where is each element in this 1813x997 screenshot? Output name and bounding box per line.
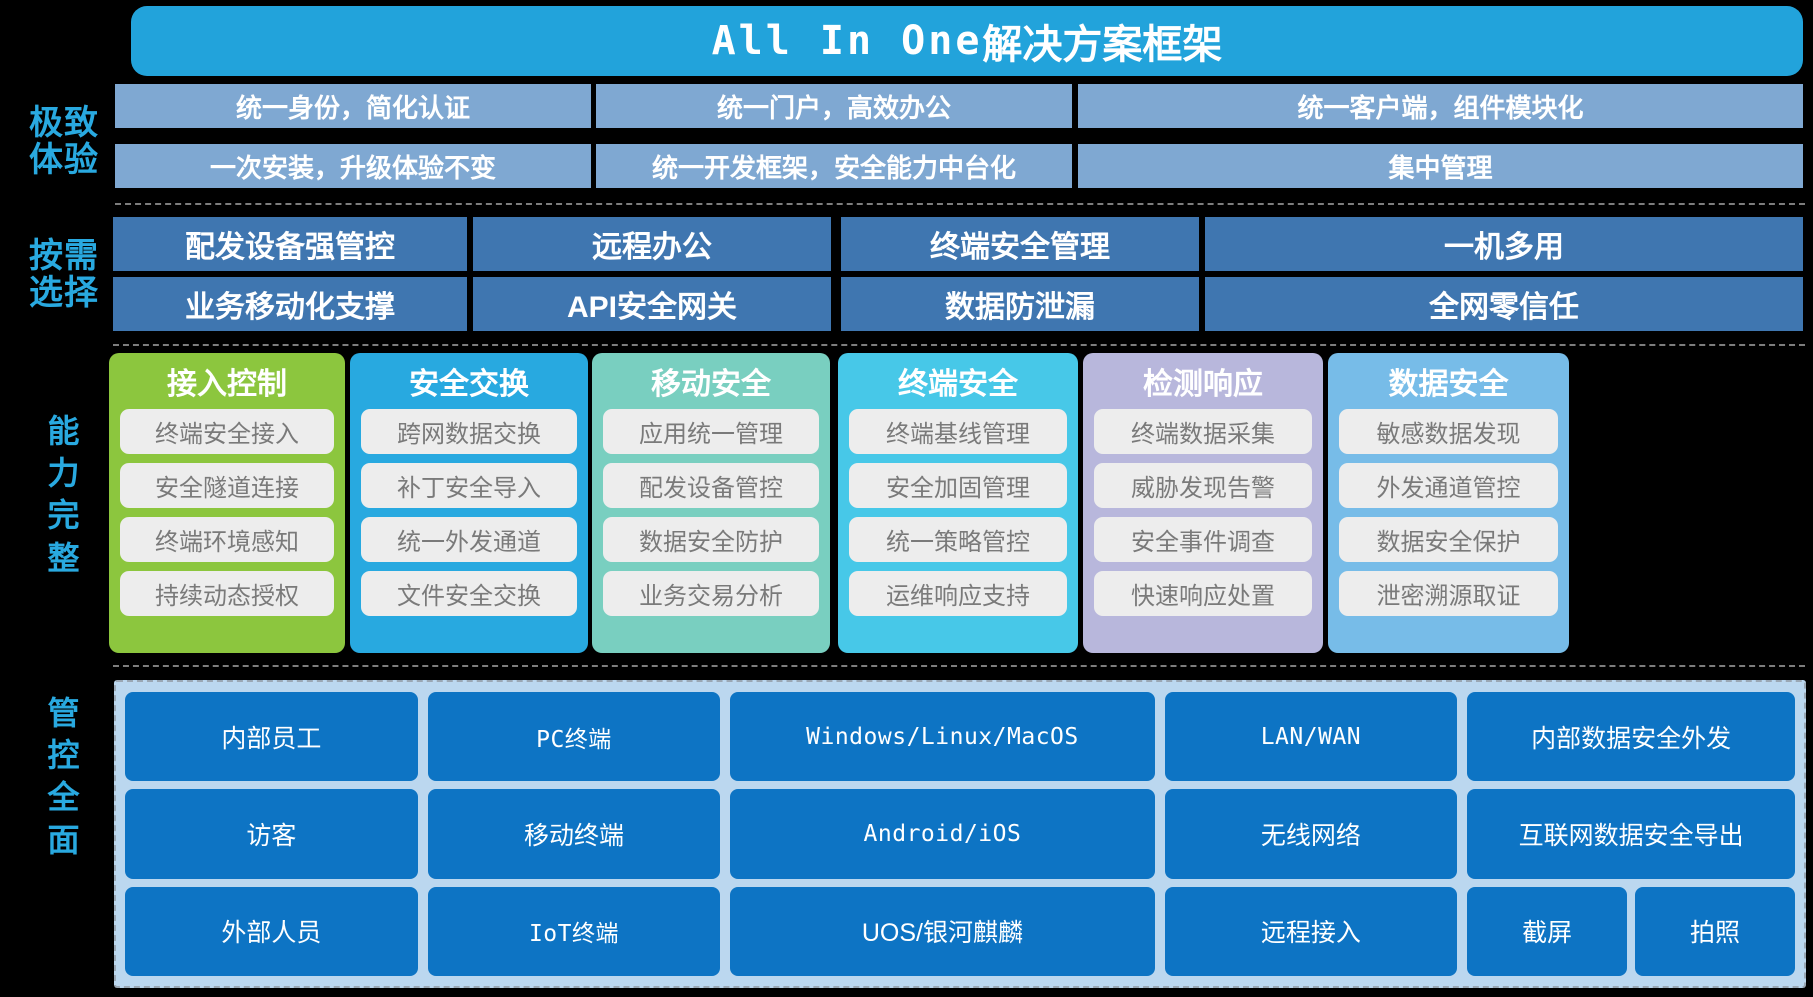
capability-item[interactable]: 业务交易分析 xyxy=(603,571,819,616)
coverage-chip[interactable]: 内部员工 xyxy=(125,692,418,781)
coverage-column-scenarios: 内部数据安全外发 互联网数据安全导出 截屏 拍照 xyxy=(1467,692,1795,976)
coverage-chip[interactable]: 内部数据安全外发 xyxy=(1467,692,1795,781)
capability-header: 检测响应 xyxy=(1083,353,1323,409)
coverage-chip[interactable]: LAN/WAN xyxy=(1165,692,1458,781)
capability-item[interactable]: 外发通道管控 xyxy=(1339,463,1558,508)
coverage-row: 互联网数据安全导出 xyxy=(1467,789,1795,878)
experience-bar-1-2: 统一门户，高效办公 xyxy=(596,84,1072,128)
coverage-column-operating-systems: Windows/Linux/MacOS Android/iOS UOS/银河麒麟 xyxy=(730,692,1154,976)
experience-bar-1-1: 统一身份，简化认证 xyxy=(115,84,591,128)
capability-item[interactable]: 安全加固管理 xyxy=(849,463,1067,508)
separator-experience-ondemand xyxy=(115,203,1805,205)
coverage-row: UOS/银河麒麟 xyxy=(730,887,1154,976)
coverage-row: PC终端 xyxy=(428,692,721,781)
capability-item[interactable]: 统一策略管控 xyxy=(849,517,1067,562)
rail-capability-char-3: 完 xyxy=(8,494,120,536)
rail-capability-char-2: 力 xyxy=(8,452,120,494)
capability-header: 安全交换 xyxy=(350,353,588,409)
rail-capability-char-4: 整 xyxy=(8,537,120,579)
capability-header: 数据安全 xyxy=(1328,353,1569,409)
rail-coverage-char-1: 管 xyxy=(8,692,120,734)
title-mono-prefix: All In One xyxy=(712,18,983,64)
coverage-row: Android/iOS xyxy=(730,789,1154,878)
capability-item[interactable]: 终端数据采集 xyxy=(1094,409,1312,454)
capability-item[interactable]: 补丁安全导入 xyxy=(361,463,577,508)
coverage-column-users: 内部员工 访客 外部人员 xyxy=(125,692,418,976)
capability-item[interactable]: 数据安全保护 xyxy=(1339,517,1558,562)
coverage-chip[interactable]: 拍照 xyxy=(1635,887,1795,976)
capability-item[interactable]: 配发设备管控 xyxy=(603,463,819,508)
coverage-chip[interactable]: Windows/Linux/MacOS xyxy=(730,692,1154,781)
capability-item-list: 跨网数据交换 补丁安全导入 统一外发通道 文件安全交换 xyxy=(350,409,588,626)
capability-item[interactable]: 终端环境感知 xyxy=(120,517,334,562)
capability-item-list: 终端安全接入 安全隧道连接 终端环境感知 持续动态授权 xyxy=(109,409,345,626)
rail-coverage-char-3: 全 xyxy=(8,776,120,818)
coverage-chip[interactable]: 无线网络 xyxy=(1165,789,1458,878)
diagram-title: All In One解决方案框架 xyxy=(131,6,1803,76)
coverage-chip[interactable]: 移动终端 xyxy=(428,789,721,878)
ondemand-bar-1-1: 配发设备强管控 xyxy=(113,217,467,271)
coverage-chip[interactable]: PC终端 xyxy=(428,692,721,781)
ondemand-bar-2-1: 业务移动化支撑 xyxy=(113,277,467,331)
capability-item[interactable]: 终端安全接入 xyxy=(120,409,334,454)
coverage-chip[interactable]: 远程接入 xyxy=(1165,887,1458,976)
rail-experience-line2: 体验 xyxy=(8,142,120,179)
experience-bar-2-3: 集中管理 xyxy=(1078,144,1803,188)
capability-item[interactable]: 快速响应处置 xyxy=(1094,571,1312,616)
coverage-row: 截屏 拍照 xyxy=(1467,887,1795,976)
coverage-row: Windows/Linux/MacOS xyxy=(730,692,1154,781)
coverage-row: 访客 xyxy=(125,789,418,878)
rail-label-experience: 极致 体验 xyxy=(8,105,120,178)
capability-item[interactable]: 运维响应支持 xyxy=(849,571,1067,616)
capability-column-detection-response: 检测响应 终端数据采集 威胁发现告警 安全事件调查 快速响应处置 xyxy=(1083,353,1323,653)
ondemand-bar-1-4: 一机多用 xyxy=(1205,217,1803,271)
coverage-chip[interactable]: 外部人员 xyxy=(125,887,418,976)
ondemand-bar-2-4: 全网零信任 xyxy=(1205,277,1803,331)
separator-capability-coverage xyxy=(113,665,1805,667)
rail-ondemand-line2: 选择 xyxy=(8,275,120,312)
ondemand-bar-1-3: 终端安全管理 xyxy=(841,217,1199,271)
capability-item[interactable]: 泄密溯源取证 xyxy=(1339,571,1558,616)
coverage-chip[interactable]: 截屏 xyxy=(1467,887,1627,976)
coverage-panel: 内部员工 访客 外部人员 PC终端 移动终端 IoT终端 Windows/Lin… xyxy=(114,680,1806,988)
capability-column-endpoint-security: 终端安全 终端基线管理 安全加固管理 统一策略管控 运维响应支持 xyxy=(838,353,1078,653)
capability-header: 接入控制 xyxy=(109,353,345,409)
capability-item[interactable]: 应用统一管理 xyxy=(603,409,819,454)
capability-item[interactable]: 文件安全交换 xyxy=(361,571,577,616)
coverage-column-networks: LAN/WAN 无线网络 远程接入 xyxy=(1165,692,1458,976)
capability-item[interactable]: 跨网数据交换 xyxy=(361,409,577,454)
capability-item-list: 应用统一管理 配发设备管控 数据安全防护 业务交易分析 xyxy=(592,409,830,626)
rail-label-coverage: 管 控 全 面 xyxy=(8,692,120,861)
capability-item[interactable]: 威胁发现告警 xyxy=(1094,463,1312,508)
coverage-row: 内部员工 xyxy=(125,692,418,781)
rail-capability-char-1: 能 xyxy=(8,410,120,452)
rail-coverage-char-2: 控 xyxy=(8,734,120,776)
capability-item-list: 终端基线管理 安全加固管理 统一策略管控 运维响应支持 xyxy=(838,409,1078,626)
capability-item[interactable]: 统一外发通道 xyxy=(361,517,577,562)
coverage-row: 无线网络 xyxy=(1165,789,1458,878)
experience-bar-2-2: 统一开发框架，安全能力中台化 xyxy=(596,144,1072,188)
capability-column-access-control: 接入控制 终端安全接入 安全隧道连接 终端环境感知 持续动态授权 xyxy=(109,353,345,653)
capability-item[interactable]: 持续动态授权 xyxy=(120,571,334,616)
capability-item[interactable]: 数据安全防护 xyxy=(603,517,819,562)
capability-column-mobile-security: 移动安全 应用统一管理 配发设备管控 数据安全防护 业务交易分析 xyxy=(592,353,830,653)
ondemand-bar-1-2: 远程办公 xyxy=(473,217,831,271)
coverage-row: LAN/WAN xyxy=(1165,692,1458,781)
title-cjk-suffix: 解决方案框架 xyxy=(982,12,1222,70)
rail-coverage-char-4: 面 xyxy=(8,819,120,861)
architecture-diagram: All In One解决方案框架 极致 体验 统一身份，简化认证 统一门户，高效… xyxy=(0,0,1813,997)
ondemand-bar-2-3: 数据防泄漏 xyxy=(841,277,1199,331)
capability-item-list: 敏感数据发现 外发通道管控 数据安全保护 泄密溯源取证 xyxy=(1328,409,1569,626)
coverage-row: 远程接入 xyxy=(1165,887,1458,976)
capability-item-list: 终端数据采集 威胁发现告警 安全事件调查 快速响应处置 xyxy=(1083,409,1323,626)
experience-bar-2-1: 一次安装，升级体验不变 xyxy=(115,144,591,188)
capability-item[interactable]: 安全隧道连接 xyxy=(120,463,334,508)
capability-column-secure-exchange: 安全交换 跨网数据交换 补丁安全导入 统一外发通道 文件安全交换 xyxy=(350,353,588,653)
coverage-chip[interactable]: IoT终端 xyxy=(428,887,721,976)
capability-header: 移动安全 xyxy=(592,353,830,409)
coverage-chip[interactable]: Android/iOS xyxy=(730,789,1154,878)
rail-experience-line1: 极致 xyxy=(8,105,120,142)
coverage-chip[interactable]: 互联网数据安全导出 xyxy=(1467,789,1795,878)
capability-item[interactable]: 敏感数据发现 xyxy=(1339,409,1558,454)
capability-item[interactable]: 终端基线管理 xyxy=(849,409,1067,454)
coverage-chip[interactable]: 访客 xyxy=(125,789,418,878)
coverage-column-devices: PC终端 移动终端 IoT终端 xyxy=(428,692,721,976)
experience-bar-1-3: 统一客户端，组件模块化 xyxy=(1078,84,1803,128)
ondemand-bar-2-2: API安全网关 xyxy=(473,277,831,331)
coverage-chip[interactable]: UOS/银河麒麟 xyxy=(730,887,1154,976)
rail-ondemand-line1: 按需 xyxy=(8,238,120,275)
capability-header: 终端安全 xyxy=(838,353,1078,409)
coverage-row: 移动终端 xyxy=(428,789,721,878)
capability-column-data-security: 数据安全 敏感数据发现 外发通道管控 数据安全保护 泄密溯源取证 xyxy=(1328,353,1569,653)
capability-item[interactable]: 安全事件调查 xyxy=(1094,517,1312,562)
separator-ondemand-capability xyxy=(113,344,1805,346)
coverage-row: 外部人员 xyxy=(125,887,418,976)
coverage-row: 内部数据安全外发 xyxy=(1467,692,1795,781)
coverage-row: IoT终端 xyxy=(428,887,721,976)
rail-label-on-demand: 按需 选择 xyxy=(8,238,120,311)
rail-label-capability: 能 力 完 整 xyxy=(8,410,120,579)
